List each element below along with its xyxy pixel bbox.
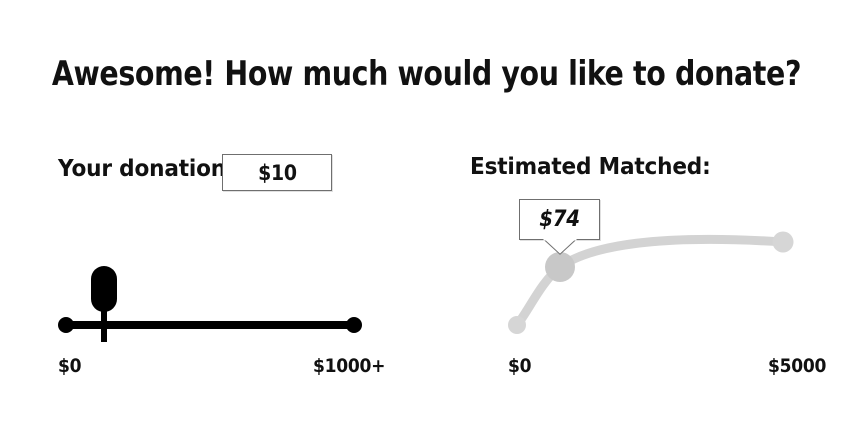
donation-amount-value: $10 xyxy=(258,161,297,185)
matched-tooltip-tail-icon xyxy=(543,239,577,255)
page-title: Awesome! How much would you like to dona… xyxy=(30,54,823,94)
slider-track-max-cap xyxy=(346,317,362,333)
curve-min-label: $0 xyxy=(508,355,531,377)
slider-handle-tip-icon xyxy=(96,298,112,312)
donation-amount-input[interactable]: $10 xyxy=(222,154,332,191)
matched-label: Estimated Matched: xyxy=(470,154,711,180)
matched-tooltip: $74 xyxy=(519,199,600,240)
curve-active-point[interactable] xyxy=(545,252,575,282)
donation-slider[interactable] xyxy=(55,262,375,348)
slider-min-label: $0 xyxy=(58,355,81,377)
curve-max-label: $5000 xyxy=(768,355,826,377)
curve-end-point xyxy=(773,232,794,253)
slider-max-label: $1000+ xyxy=(313,355,385,377)
curve-start-point xyxy=(508,316,526,334)
slider-handle[interactable] xyxy=(91,266,117,342)
donation-label: Your donation: xyxy=(58,156,234,182)
matched-tooltip-value: $74 xyxy=(539,207,580,232)
slider-track-min-cap xyxy=(58,317,74,333)
